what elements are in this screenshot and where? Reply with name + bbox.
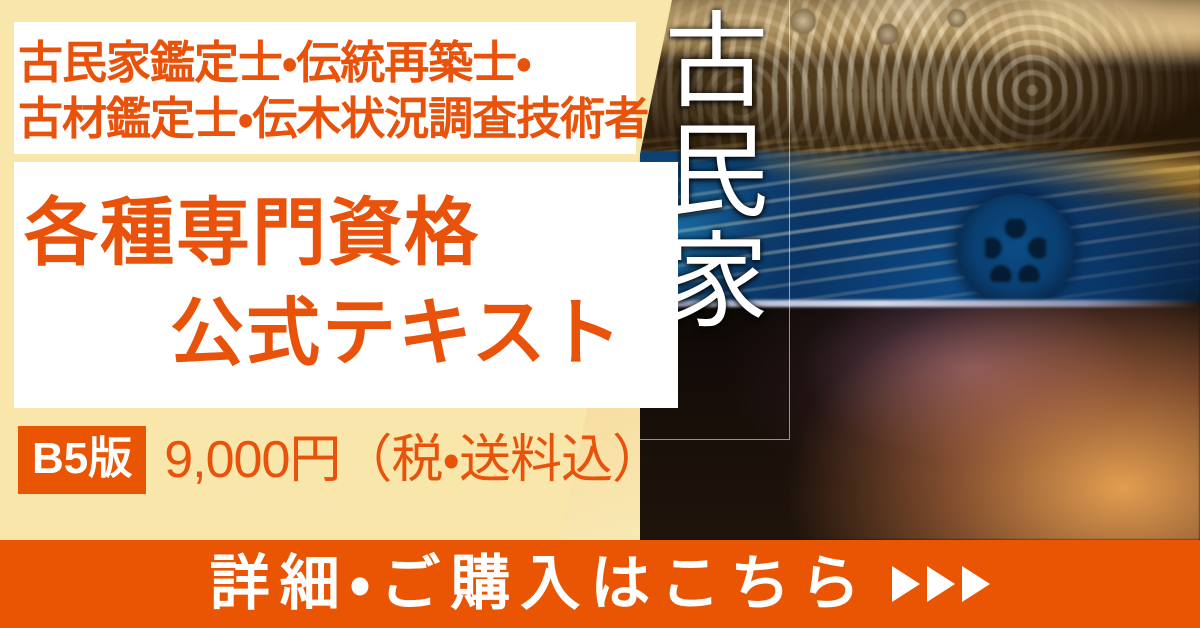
main-title-line-1: 各種専門資格 bbox=[24, 196, 480, 270]
family-crest-tile-icon bbox=[957, 194, 1075, 306]
promo-banner: 古民家 伝統構法、古民家活用のための調査と再生の 古民家鑑定士・伝統再築士・ 古… bbox=[0, 0, 1200, 628]
headline-line-1: 古民家鑑定士・伝統再築士・ bbox=[18, 40, 531, 85]
headline-line-2: 古材鑑定士・伝木状況調査技術者 bbox=[18, 96, 648, 141]
price-row: B5版 9,000円（税・送料込） bbox=[18, 426, 663, 494]
price-amount: 9,000円（税・送料込） bbox=[164, 434, 663, 486]
cta-arrow-group bbox=[892, 566, 990, 602]
play-triangle-icon bbox=[927, 566, 955, 602]
main-title-line-2: 公式テキスト bbox=[170, 296, 624, 370]
cta-bar[interactable]: 詳細・ご購入はこちら bbox=[0, 540, 1200, 628]
cta-label: 詳細・ご購入はこちら bbox=[210, 554, 870, 614]
format-badge: B5版 bbox=[18, 426, 146, 494]
play-triangle-icon bbox=[962, 566, 990, 602]
play-triangle-icon bbox=[892, 566, 920, 602]
